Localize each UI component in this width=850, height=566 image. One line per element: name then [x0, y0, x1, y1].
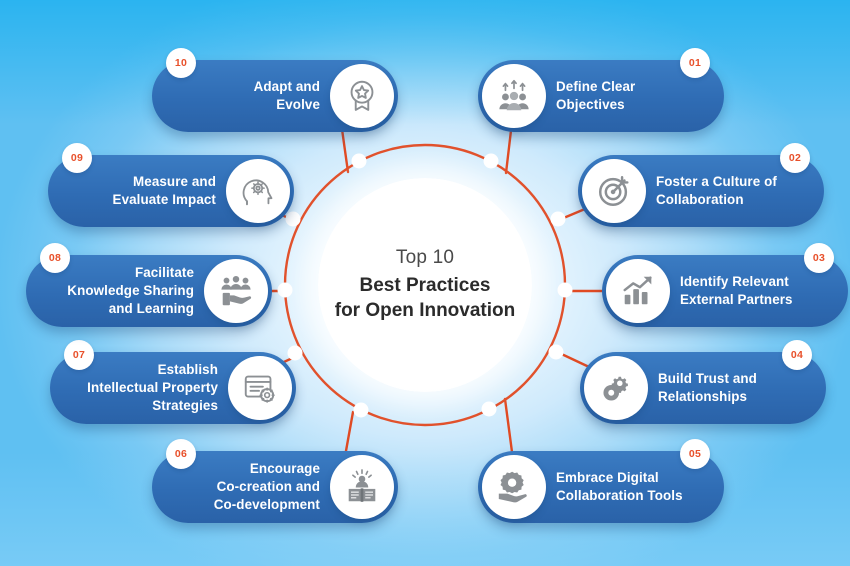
center-top-label: Top 10: [396, 247, 454, 269]
person-book-idea-icon: [330, 455, 394, 519]
node-03-line-2: External Partners: [680, 291, 793, 309]
head-gear-icon: [226, 159, 290, 223]
node-10-line-1: Adapt and: [254, 78, 320, 96]
center-title-line-2: for Open Innovation: [335, 299, 516, 323]
node-07-line-3: Strategies: [87, 397, 218, 415]
award-badge-icon: [330, 64, 394, 128]
node-07-line-1: Establish: [87, 361, 218, 379]
node-06[interactable]: Encourage Co-creation and Co-development…: [152, 451, 398, 523]
node-09-line-1: Measure and: [113, 173, 216, 191]
node-05-line-1: Embrace Digital: [556, 469, 683, 487]
node-02[interactable]: Foster a Culture of Collaboration 02: [578, 155, 824, 227]
node-09-line-2: Evaluate Impact: [113, 191, 216, 209]
gears-icon: [584, 356, 648, 420]
node-05-badge: 05: [680, 439, 710, 469]
node-04-line-2: Relationships: [658, 388, 757, 406]
node-08-line-1: Facilitate: [67, 264, 194, 282]
people-growth-icon: [482, 64, 546, 128]
node-03-badge: 03: [804, 243, 834, 273]
document-gear-icon: [228, 356, 292, 420]
infographic-canvas: Top 10 Best Practices for Open Innovatio…: [0, 0, 850, 566]
node-02-line-1: Foster a Culture of: [656, 173, 777, 191]
node-08-line-3: and Learning: [67, 300, 194, 318]
node-08-line-2: Knowledge Sharing: [67, 282, 194, 300]
node-02-badge: 02: [780, 143, 810, 173]
node-10-line-2: Evolve: [254, 96, 320, 114]
center-title-line-1: Best Practices: [335, 274, 516, 298]
node-08-badge: 08: [40, 243, 70, 273]
hand-people-icon: [204, 259, 268, 323]
node-10[interactable]: Adapt and Evolve 10: [152, 60, 398, 132]
node-07-line-2: Intellectual Property: [87, 379, 218, 397]
node-03-line-1: Identify Relevant: [680, 273, 793, 291]
target-icon: [582, 159, 646, 223]
node-06-line-2: Co-creation and: [214, 478, 320, 496]
node-01[interactable]: Define Clear Objectives 01: [478, 60, 724, 132]
node-04-line-1: Build Trust and: [658, 370, 757, 388]
node-10-badge: 10: [166, 48, 196, 78]
center-title: Best Practices for Open Innovation: [335, 274, 516, 323]
hand-gear-icon: [482, 455, 546, 519]
node-05[interactable]: Embrace Digital Collaboration Tools 05: [478, 451, 724, 523]
node-01-line-2: Objectives: [556, 96, 635, 114]
node-04-badge: 04: [782, 340, 812, 370]
connector-line-05: [505, 399, 512, 452]
node-07[interactable]: Establish Intellectual Property Strategi…: [50, 352, 296, 424]
node-09-badge: 09: [62, 143, 92, 173]
node-04[interactable]: Build Trust and Relationships 04: [580, 352, 826, 424]
node-01-line-1: Define Clear: [556, 78, 635, 96]
growth-chart-icon: [606, 259, 670, 323]
node-06-line-3: Co-development: [214, 496, 320, 514]
node-08[interactable]: Facilitate Knowledge Sharing and Learnin…: [26, 255, 272, 327]
center-hub: Top 10 Best Practices for Open Innovatio…: [318, 178, 532, 392]
node-01-badge: 01: [680, 48, 710, 78]
node-05-line-2: Collaboration Tools: [556, 487, 683, 505]
node-09[interactable]: Measure and Evaluate Impact 09: [48, 155, 294, 227]
node-03[interactable]: Identify Relevant External Partners 03: [602, 255, 848, 327]
node-06-line-1: Encourage: [214, 460, 320, 478]
node-07-badge: 07: [64, 340, 94, 370]
node-02-line-2: Collaboration: [656, 191, 777, 209]
node-06-badge: 06: [166, 439, 196, 469]
